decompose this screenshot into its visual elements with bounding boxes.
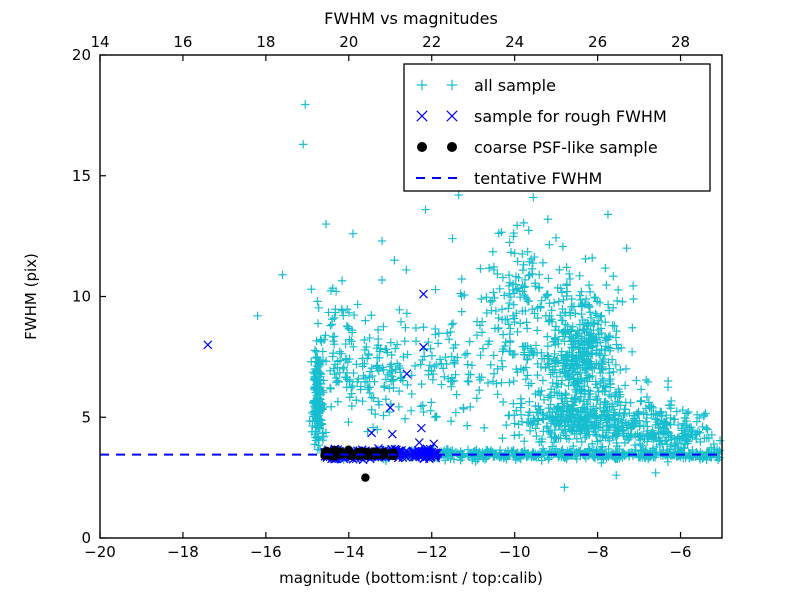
data-point-plus: [477, 295, 485, 303]
data-point-plus: [493, 390, 501, 398]
x-tick-label-top: 22: [422, 33, 441, 51]
data-point-plus: [403, 381, 411, 389]
data-point-plus: [520, 282, 528, 290]
data-point-plus: [533, 371, 541, 379]
y-tick-label: 5: [81, 408, 91, 426]
data-point-plus: [395, 403, 403, 411]
data-point-plus: [644, 378, 652, 386]
data-point-plus: [522, 318, 530, 326]
data-point-plus: [601, 318, 609, 326]
data-point-plus: [535, 283, 543, 291]
x-tick-label-bottom: −12: [416, 543, 448, 561]
data-point-plus: [313, 297, 321, 305]
data-point-plus: [606, 344, 614, 352]
x-axis-label: magnitude (bottom:isnt / top:calib): [279, 569, 543, 587]
data-point-plus: [367, 311, 375, 319]
data-point-plus: [337, 349, 345, 357]
data-point-x: [419, 290, 427, 298]
data-point-plus: [604, 210, 612, 218]
data-point-plus: [518, 250, 526, 258]
data-point-x: [368, 429, 376, 437]
data-point-plus: [326, 321, 334, 329]
data-point-plus: [510, 377, 518, 385]
x-tick-label-top: 20: [339, 33, 358, 51]
data-point-plus: [431, 285, 439, 293]
data-point-plus: [498, 363, 506, 371]
data-point-plus: [523, 248, 531, 256]
data-point-plus: [523, 324, 531, 332]
data-point-plus: [493, 365, 501, 373]
data-point-plus: [463, 360, 471, 368]
data-point-dot: [381, 448, 389, 456]
data-point-plus: [529, 193, 537, 201]
data-point-plus: [607, 392, 615, 400]
data-point-plus: [412, 337, 420, 345]
data-point-plus: [602, 281, 610, 289]
data-point-dot: [361, 473, 369, 481]
data-point-plus: [601, 264, 609, 272]
data-point-plus: [537, 296, 545, 304]
data-point-plus: [629, 282, 637, 290]
data-point-plus: [545, 299, 553, 307]
x-tick-label-top: 24: [505, 33, 524, 51]
x-tick-label-top: 18: [256, 33, 275, 51]
data-point-x: [403, 370, 411, 378]
data-point-plus: [458, 307, 466, 315]
x-tick-label-top: 26: [588, 33, 607, 51]
data-point-plus: [523, 371, 531, 379]
data-point-plus: [361, 316, 369, 324]
data-point-plus: [349, 230, 357, 238]
data-point-plus: [365, 383, 373, 391]
data-point-plus: [581, 255, 589, 263]
y-tick-label: 10: [72, 288, 91, 306]
data-point-plus: [419, 323, 427, 331]
data-point-plus: [466, 337, 474, 345]
data-point-plus: [378, 276, 386, 284]
data-point-plus: [480, 424, 488, 432]
y-tick-label: 0: [81, 529, 91, 547]
scatter-plot: −20−18−16−14−12−10−8−6141618202224262805…: [0, 0, 800, 600]
figure-canvas: −20−18−16−14−12−10−8−6141618202224262805…: [0, 0, 800, 600]
data-point-plus: [358, 397, 366, 405]
data-point-plus: [631, 441, 639, 449]
data-point-plus: [621, 381, 629, 389]
data-point-plus: [416, 360, 424, 368]
data-point-plus: [543, 332, 551, 340]
data-point-plus: [336, 348, 344, 356]
data-point-plus: [402, 266, 410, 274]
data-point-plus: [614, 286, 622, 294]
data-point-plus: [525, 226, 533, 234]
data-point-plus: [500, 291, 508, 299]
data-point-plus: [539, 376, 547, 384]
data-point-plus: [643, 393, 651, 401]
x-tick-label-top: 28: [671, 33, 690, 51]
data-point-plus: [301, 100, 309, 108]
data-point-plus: [387, 360, 395, 368]
data-point-plus: [629, 295, 637, 303]
data-point-plus: [437, 380, 445, 388]
data-point-plus: [577, 310, 585, 318]
data-point-plus: [510, 431, 518, 439]
data-point-plus: [498, 357, 506, 365]
data-point-plus: [468, 361, 476, 369]
data-point-plus: [519, 266, 527, 274]
data-point-plus: [524, 418, 532, 426]
data-point-plus: [330, 332, 338, 340]
data-point-plus: [395, 306, 403, 314]
data-point-plus: [506, 324, 514, 332]
legend-marker-dot-icon: [417, 142, 427, 152]
data-point-plus: [502, 421, 510, 429]
data-point-plus: [499, 330, 507, 338]
data-point-plus: [441, 353, 449, 361]
legend-label: coarse PSF-like sample: [474, 138, 658, 157]
data-point-plus: [559, 242, 567, 250]
data-point-plus: [517, 395, 525, 403]
data-point-plus: [533, 326, 541, 334]
data-point-plus: [326, 384, 334, 392]
data-point-plus: [454, 191, 462, 199]
data-point-plus: [551, 326, 559, 334]
x-tick-label-bottom: −6: [669, 543, 691, 561]
data-point-plus: [321, 331, 329, 339]
data-point-plus: [535, 270, 543, 278]
data-point-plus: [637, 385, 645, 393]
data-point-plus: [427, 398, 435, 406]
x-tick-label-bottom: −10: [499, 543, 531, 561]
data-point-plus: [334, 398, 342, 406]
data-point-plus: [485, 264, 493, 272]
data-point-plus: [505, 299, 513, 307]
data-point-plus: [432, 412, 440, 420]
data-point-plus: [651, 469, 659, 477]
data-point-plus: [378, 237, 386, 245]
legend-label: sample for rough FWHM: [474, 107, 667, 126]
data-point-plus: [612, 327, 620, 335]
legend[interactable]: all samplesample for rough FWHMcoarse PS…: [404, 64, 710, 191]
data-point-plus: [463, 421, 471, 429]
data-point-plus: [642, 376, 650, 384]
x-tick-label-top: 14: [90, 33, 109, 51]
data-point-plus: [463, 349, 471, 357]
data-point-plus: [489, 248, 497, 256]
data-point-plus: [622, 365, 630, 373]
data-point-plus: [632, 376, 640, 384]
data-point-plus: [664, 377, 672, 385]
y-tick-label: 20: [72, 46, 91, 64]
data-point-plus: [417, 380, 425, 388]
data-point-plus: [314, 319, 322, 327]
data-point-plus: [387, 338, 395, 346]
data-point-plus: [440, 373, 448, 381]
data-point-plus: [466, 403, 474, 411]
data-point-plus: [486, 298, 494, 306]
data-point-plus: [552, 234, 560, 242]
data-point-plus: [434, 339, 442, 347]
data-point-dot: [368, 449, 376, 457]
legend-label: tentative FWHM: [474, 169, 602, 188]
data-point-plus: [369, 423, 377, 431]
data-point-plus: [431, 325, 439, 333]
data-point-plus: [330, 314, 338, 322]
chart-title: FWHM vs magnitudes: [324, 9, 498, 28]
data-point-plus: [511, 249, 519, 257]
data-point-plus: [401, 337, 409, 345]
legend-label: all sample: [474, 76, 556, 95]
data-point-plus: [586, 288, 594, 296]
data-point-plus: [507, 248, 515, 256]
data-point-x: [415, 439, 423, 447]
data-point-plus: [478, 317, 486, 325]
data-point-plus: [515, 431, 523, 439]
data-point-plus: [497, 379, 505, 387]
data-point-plus: [390, 256, 398, 264]
data-point-plus: [349, 369, 357, 377]
data-point-plus: [447, 417, 455, 425]
data-point-plus: [403, 309, 411, 317]
x-tick-label-top: 16: [173, 33, 192, 51]
data-point-plus: [637, 397, 645, 405]
data-point-plus: [412, 324, 420, 332]
data-point-plus: [330, 365, 338, 373]
data-point-plus: [418, 356, 426, 364]
data-point-plus: [401, 323, 409, 331]
data-point-plus: [517, 399, 525, 407]
data-point-plus: [616, 366, 624, 374]
data-point-plus: [328, 320, 336, 328]
data-point-plus: [498, 434, 506, 442]
data-point-plus: [459, 404, 467, 412]
data-point-plus: [517, 411, 525, 419]
y-tick-label: 15: [72, 167, 91, 185]
data-point-plus: [510, 318, 518, 326]
data-point-plus: [528, 305, 536, 313]
data-point-plus: [513, 328, 521, 336]
data-point-plus: [490, 351, 498, 359]
x-tick-label-bottom: −8: [587, 543, 609, 561]
data-point-plus: [555, 297, 563, 305]
data-point-plus: [448, 320, 456, 328]
data-point-plus: [393, 340, 401, 348]
data-point-plus: [544, 274, 552, 282]
data-point-plus: [426, 361, 434, 369]
data-point-plus: [399, 353, 407, 361]
data-point-plus: [428, 352, 436, 360]
data-point-plus: [520, 343, 528, 351]
data-point-plus: [397, 318, 405, 326]
data-point-plus: [609, 272, 617, 280]
data-point-plus: [322, 220, 330, 228]
data-point-plus: [506, 337, 514, 345]
data-point-plus: [389, 377, 397, 385]
data-point-plus: [407, 407, 415, 415]
data-point-plus: [510, 419, 518, 427]
data-point-plus: [360, 336, 368, 344]
data-point-plus: [338, 277, 346, 285]
data-point-plus: [545, 240, 553, 248]
data-point-plus: [278, 271, 286, 279]
data-point-plus: [311, 346, 319, 354]
data-point-plus: [253, 312, 261, 320]
data-point-plus: [609, 321, 617, 329]
x-tick-label-bottom: −16: [250, 543, 282, 561]
data-point-plus: [473, 394, 481, 402]
data-point-plus: [622, 244, 630, 252]
data-point-plus: [347, 383, 355, 391]
data-point-plus: [401, 415, 409, 423]
data-point-plus: [344, 418, 352, 426]
data-point-x: [388, 430, 396, 438]
data-point-plus: [613, 297, 621, 305]
data-point-x: [417, 424, 425, 432]
data-point-plus: [539, 259, 547, 267]
data-point-plus: [452, 390, 460, 398]
data-point-plus: [526, 427, 534, 435]
data-point-plus: [496, 285, 504, 293]
data-point-plus: [349, 343, 357, 351]
data-point-dot: [389, 449, 397, 457]
data-point-plus: [382, 395, 390, 403]
data-point-plus: [368, 393, 376, 401]
data-point-plus: [547, 306, 555, 314]
data-point-plus: [577, 287, 585, 295]
data-point-plus: [348, 402, 356, 410]
data-point-plus: [419, 401, 427, 409]
data-point-plus: [588, 254, 596, 262]
data-point-plus: [475, 386, 483, 394]
data-point-plus: [299, 140, 307, 148]
data-point-plus: [307, 285, 315, 293]
legend-marker-dot-icon: [447, 142, 457, 152]
data-point-plus: [490, 370, 498, 378]
data-point-plus: [464, 370, 472, 378]
data-point-plus: [396, 374, 404, 382]
data-point-dot: [359, 449, 367, 457]
data-point-plus: [452, 408, 460, 416]
data-point-plus: [464, 378, 472, 386]
data-point-plus: [426, 345, 434, 353]
data-point-plus: [408, 390, 416, 398]
data-point-plus: [525, 398, 533, 406]
data-point-plus: [327, 403, 335, 411]
data-point-plus: [505, 378, 513, 386]
data-point-plus: [411, 362, 419, 370]
y-axis-label: FWHM (pix): [22, 253, 40, 340]
data-point-plus: [431, 413, 439, 421]
data-point-plus: [575, 272, 583, 280]
data-point-plus: [636, 397, 644, 405]
data-point-plus: [618, 298, 626, 306]
data-point-plus: [487, 361, 495, 369]
data-point-plus: [498, 347, 506, 355]
data-point-plus: [560, 483, 568, 491]
data-point-dot: [346, 452, 354, 460]
data-point-plus: [448, 234, 456, 242]
data-point-plus: [520, 437, 528, 445]
data-point-plus: [421, 205, 429, 213]
data-point-plus: [620, 405, 628, 413]
data-point-plus: [544, 404, 552, 412]
data-point-x: [204, 341, 212, 349]
data-point-plus: [628, 324, 636, 332]
data-point-plus: [628, 348, 636, 356]
data-point-plus: [544, 342, 552, 350]
data-point-plus: [549, 379, 557, 387]
data-point-plus: [327, 385, 335, 393]
data-point-plus: [445, 335, 453, 343]
x-tick-label-bottom: −18: [167, 543, 199, 561]
data-point-plus: [461, 351, 469, 359]
data-point-plus: [504, 411, 512, 419]
data-point-plus: [476, 264, 484, 272]
data-point-plus: [403, 350, 411, 358]
data-point-plus: [505, 238, 513, 246]
data-point-plus: [365, 334, 373, 342]
data-point-plus: [458, 275, 466, 283]
data-point-plus: [449, 319, 457, 327]
data-point-plus: [498, 305, 506, 313]
data-point-plus: [391, 344, 399, 352]
data-point-plus: [499, 398, 507, 406]
data-point-plus: [612, 471, 620, 479]
x-tick-label-bottom: −14: [333, 543, 365, 561]
data-point-plus: [544, 215, 552, 223]
data-point-plus: [484, 379, 492, 387]
data-point-plus: [426, 406, 434, 414]
data-point-plus: [585, 281, 593, 289]
data-point-plus: [516, 319, 524, 327]
data-point-plus: [352, 360, 360, 368]
data-point-plus: [353, 300, 361, 308]
data-point-plus: [436, 355, 444, 363]
data-point-plus: [489, 288, 497, 296]
data-point-plus: [319, 347, 327, 355]
data-point-plus: [702, 424, 710, 432]
data-point-plus: [571, 386, 579, 394]
data-point-plus: [315, 304, 323, 312]
data-point-plus: [350, 311, 358, 319]
